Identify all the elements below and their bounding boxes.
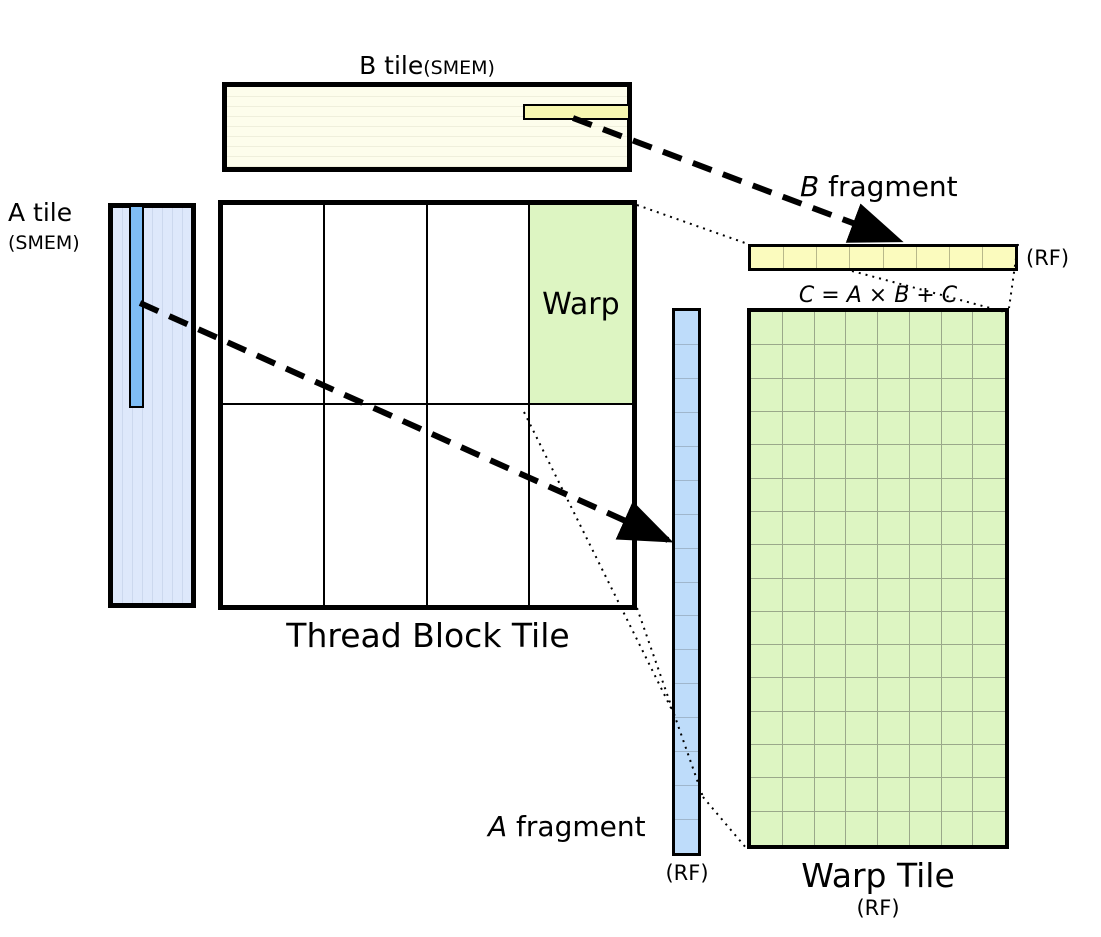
diagram-canvas: B tile(SMEM) A tile (SMEM) Warp Thread B… [0,0,1101,937]
b-fragment-cell [884,247,917,268]
warp-tile-cell [846,579,878,612]
b-tile-smem-box [222,82,632,172]
thread-block-cell[interactable] [428,205,530,405]
a-fragment-caption: A fragment [488,810,646,843]
thread-block-cell[interactable] [325,405,427,605]
warp-tile-cell [783,412,815,445]
warp-tile-cell [783,745,815,778]
a-fragment-cell [675,786,698,820]
warp-tile-cell [846,745,878,778]
warp-tile-cell [815,645,847,678]
warp-tile-cell [815,712,847,745]
thread-block-tile-box: Warp [218,200,637,610]
warp-tile-cell [846,312,878,345]
warp-tile-cell [910,545,942,578]
warp-tile-cell [783,379,815,412]
warp-tile-cell [910,645,942,678]
b-tile-caption-memory: (SMEM) [423,57,495,79]
warp-tile-cell [910,778,942,811]
warp-tile-cell [942,345,974,378]
equation-c-rhs: C [942,283,957,308]
thread-block-cell[interactable] [223,405,325,605]
warp-tile-memory-label: (RF) [747,896,1009,920]
thread-block-tile-caption: Thread Block Tile [170,616,686,655]
a-fragment-cell [675,650,698,684]
a-tile-smem-box [108,203,196,608]
warp-tile-cell [973,579,1005,612]
warp-tile-cell [751,745,783,778]
warp-tile-cell [815,745,847,778]
warp-tile-cell [846,812,878,845]
warp-tile-cell [878,712,910,745]
warp-tile-cell [846,645,878,678]
warp-tile-cell [751,312,783,345]
warp-tile-cell [910,412,942,445]
warp-tile-cell [973,778,1005,811]
warp-tile-cell [973,445,1005,478]
warp-tile-cell [878,678,910,711]
warp-tile-cell [783,479,815,512]
warp-tile-cell [783,778,815,811]
a-fragment-cell [675,515,698,549]
b-fragment-cell [983,247,1015,268]
warp-tile-cell [783,345,815,378]
a-fragment-caption-text: fragment [507,810,645,843]
warp-tile-cell [973,312,1005,345]
warp-tile-cell [973,512,1005,545]
warp-tile-cell [815,345,847,378]
warp-tile-cell [751,412,783,445]
warp-tile-cell [878,579,910,612]
warp-tile-cell [973,345,1005,378]
a-fragment-cell [675,684,698,718]
warp-tile-cell [783,512,815,545]
warp-tile-caption: Warp Tile [747,856,1009,895]
a-fragment-cell [675,481,698,515]
a-tile-caption: A tile (SMEM) [8,198,104,258]
warp-to-b-fragment-guide-top [637,205,748,244]
warp-tile-cell [910,712,942,745]
b-fragment-cell [917,247,950,268]
warp-tile-cell [878,545,910,578]
warp-tile-cell [973,379,1005,412]
warp-tile-cell [751,545,783,578]
warp-tile-cell [878,812,910,845]
warp-tile-cell [846,512,878,545]
a-fragment-cell [675,311,698,345]
warp-tile-cell [942,812,974,845]
warp-tile-cell [846,445,878,478]
a-fragment-cell [675,413,698,447]
a-fragment-cell [675,379,698,413]
equation-equals: = [814,283,846,308]
warp-tile-cell [942,745,974,778]
warp-tile-cell [815,678,847,711]
b-fragment-caption-text: fragment [819,170,957,203]
b-tile-caption: B tile(SMEM) [222,52,632,82]
a-tile-caption-memory: (SMEM) [8,228,104,258]
warp-tile-cell [846,678,878,711]
warp-tile-cell [846,479,878,512]
warp-cell-label: Warp [542,287,620,322]
b-fragment-caption-symbol: B [800,170,819,203]
warp-tile-cell [973,412,1005,445]
warp-tile-cell [910,612,942,645]
warp-tile-cell [910,345,942,378]
warp-tile-cell [815,812,847,845]
equation-b: B [894,283,909,308]
warp-tile-cell [942,545,974,578]
a-fragment-rf-bar [672,308,701,856]
warp-tile-cell [783,612,815,645]
a-fragment-cell [675,447,698,481]
warp-tile-cell [942,778,974,811]
thread-block-cell[interactable] [223,205,325,405]
warp-tile-cell [942,512,974,545]
warp-tile-cell [942,379,974,412]
warp-tile-cell [942,445,974,478]
warp-tile-cell [878,778,910,811]
warp-tile-cell [815,579,847,612]
warp-tile-cell [910,312,942,345]
warp-tile-cell [846,545,878,578]
equation-a: A [847,283,862,308]
b-fragment-cell [784,247,817,268]
warp-tile-cell [751,579,783,612]
equation-plus: + [909,283,941,308]
warp-tile-cell [878,412,910,445]
warp-tile-cell [973,745,1005,778]
warp-tile-grid [751,312,1005,845]
warp-tile-cell [910,812,942,845]
warp-tile-cell [751,712,783,745]
a-fragment-cell [675,345,698,379]
warp-tile-cell [942,712,974,745]
warp-tile-cell [751,612,783,645]
b-tile-caption-name: B tile [359,51,423,80]
thread-block-cell[interactable] [325,205,427,405]
warp-tile-cell [942,579,974,612]
warp-tile-cell [846,345,878,378]
a-fragment-cell [675,616,698,650]
warp-tile-cell [910,745,942,778]
warp-tile-cell [783,678,815,711]
warp-tile-cell [751,645,783,678]
warp-tile-cell [846,712,878,745]
warp-tile-cell [751,778,783,811]
warp-tile-cell [878,379,910,412]
warp-tile-cell [973,712,1005,745]
warp-tile-cell [815,445,847,478]
b-fragment-memory-label: (RF) [1026,246,1069,270]
warp-tile-cell [815,545,847,578]
thread-block-cell-warp[interactable]: Warp [530,205,632,405]
warp-tile-cell [783,545,815,578]
b-fragment-cell [751,247,784,268]
b-tile-highlight-row [523,104,630,120]
warp-tile-cell [910,678,942,711]
warp-tile-cell [783,812,815,845]
b-fragment-rf-bar [748,244,1018,271]
thread-block-tile-grid: Warp [223,205,632,605]
b-fragment-cell [817,247,850,268]
warp-tile-cell [783,712,815,745]
warp-tile-cell [815,612,847,645]
b-fragment-cell [850,247,883,268]
warp-tile-cell [973,812,1005,845]
warp-tile-cell [751,445,783,478]
a-tile-caption-name: A tile [8,198,72,227]
warp-tile-cell [910,479,942,512]
warp-tile-cell [815,312,847,345]
warp-tile-cell [815,479,847,512]
warp-tile-cell [815,412,847,445]
warp-tile-cell [878,479,910,512]
warp-tile-cell [846,612,878,645]
warp-tile-cell [751,345,783,378]
warp-tile-cell [751,512,783,545]
warp-tile-cell [878,312,910,345]
a-fragment-cell [675,718,698,752]
warp-tile-cell [910,445,942,478]
equation-times: × [862,283,894,308]
warp-tile-cell [973,612,1005,645]
b-fragment-caption: B fragment [800,170,958,203]
warp-tile-cell [942,612,974,645]
warp-tile-cell [878,745,910,778]
warp-tile-cell [910,512,942,545]
warp-tile-cell [942,645,974,678]
a-fragment-caption-symbol: A [488,810,507,843]
warp-tile-cell [783,645,815,678]
warp-tile-cell [751,812,783,845]
thread-block-cell[interactable] [530,405,632,605]
warp-tile-cell [815,512,847,545]
warp-tile-cell [846,778,878,811]
warp-tile-rf-box [747,308,1009,849]
warp-tile-cell [878,612,910,645]
warp-tile-cell [783,445,815,478]
a-fragment-memory-label: (RF) [655,861,719,885]
warp-tile-cell [783,312,815,345]
warp-tile-cell [973,678,1005,711]
warp-tile-cell [751,479,783,512]
a-fragment-cell [675,583,698,617]
warp-tile-cell [878,512,910,545]
warp-tile-cell [973,645,1005,678]
warp-tile-cell [846,379,878,412]
warp-tile-cell [878,445,910,478]
warp-tile-cell [815,778,847,811]
warp-tile-cell [783,579,815,612]
warp-tile-cell [942,678,974,711]
a-tile-highlight-column [129,205,144,408]
b-fragment-cell [950,247,983,268]
a-fragment-cell [675,549,698,583]
warp-tile-cell [942,412,974,445]
warp-tile-cell [846,412,878,445]
warp-tile-cell [942,479,974,512]
warp-tile-cell [751,678,783,711]
a-fragment-to-warp-tile-guide [703,797,747,849]
warp-tile-cell [910,579,942,612]
warp-tile-cell [973,545,1005,578]
a-fragment-cell [675,820,698,853]
warp-tile-cell [878,345,910,378]
warp-tile-cell [973,479,1005,512]
thread-block-cell[interactable] [428,405,530,605]
warp-tile-cell [751,379,783,412]
warp-tile-cell [942,312,974,345]
warp-tile-cell [815,379,847,412]
warp-tile-cell [878,645,910,678]
warp-tile-cell [910,379,942,412]
equation-c-lhs: C [799,283,814,308]
warp-tile-equation: C = A × B + C [747,283,1009,308]
a-fragment-cell [675,752,698,786]
